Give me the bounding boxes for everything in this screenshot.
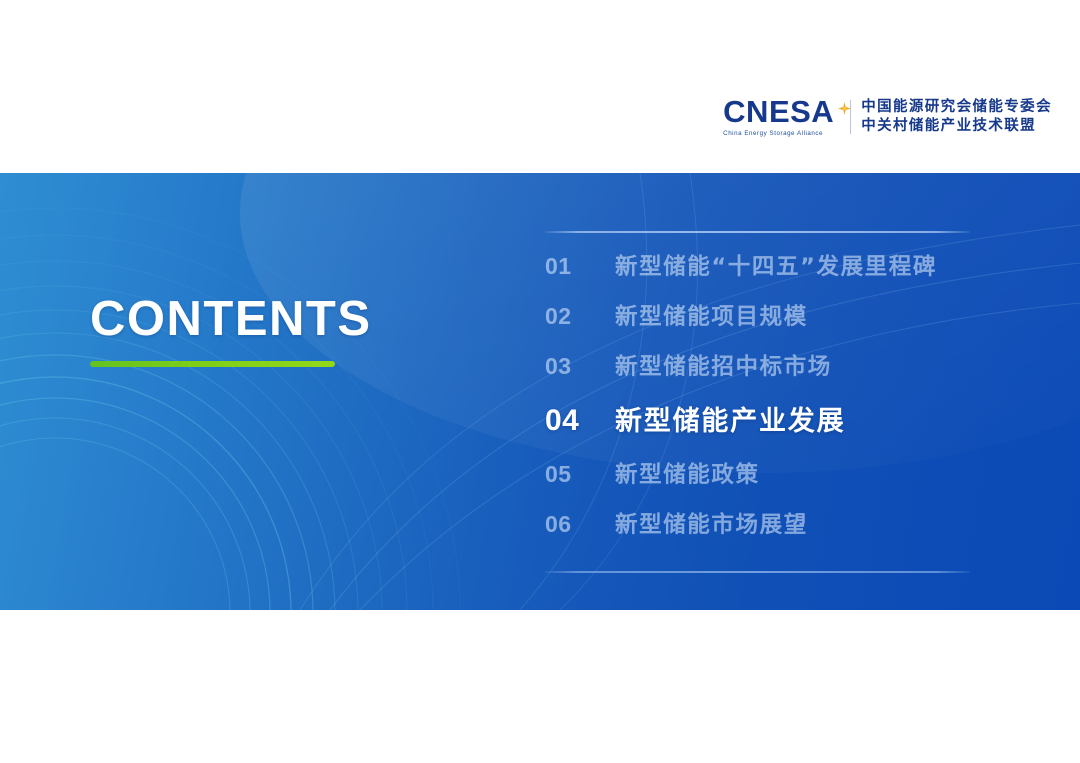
logo-chinese-line-1: 中国能源研究会储能专委会 <box>861 99 1052 116</box>
toc-divider-bottom <box>545 571 970 573</box>
toc-number-05: 05 <box>545 461 615 488</box>
toc-label-06: 新型储能市场展望 <box>615 507 808 539</box>
logo-wordmark-group: CNESA China Energy Storage Alliance <box>723 96 840 137</box>
toc-item-06[interactable]: 06 新型储能市场展望 <box>545 507 970 557</box>
toc-item-05[interactable]: 05 新型储能政策 <box>545 457 970 507</box>
toc-item-03[interactable]: 03 新型储能招中标市场 <box>545 349 970 399</box>
page-title: CONTENTS <box>90 295 372 344</box>
toc-label-02: 新型储能项目规模 <box>615 299 808 331</box>
logo-tagline: China Energy Storage Alliance <box>723 130 823 137</box>
toc-label-04: 新型储能产业发展 <box>615 399 845 438</box>
table-of-contents: 01 新型储能“十四五”发展里程碑 02 新型储能项目规模 03 新型储能招中标… <box>545 231 970 573</box>
toc-label-01: 新型储能“十四五”发展里程碑 <box>615 249 937 281</box>
slide-header: CNESA China Energy Storage Alliance 中国能源… <box>0 0 1080 173</box>
slide-root: CNESA China Energy Storage Alliance 中国能源… <box>0 0 1080 763</box>
toc-label-05: 新型储能政策 <box>615 457 760 489</box>
content-panel: CONTENTS 01 新型储能“十四五”发展里程碑 02 新型储能项目规模 0… <box>0 173 1080 610</box>
logo-divider <box>850 100 851 134</box>
toc-list: 01 新型储能“十四五”发展里程碑 02 新型储能项目规模 03 新型储能招中标… <box>545 233 970 571</box>
toc-item-01[interactable]: 01 新型储能“十四五”发展里程碑 <box>545 249 970 299</box>
logo-wordmark: CNESA <box>723 96 834 127</box>
toc-item-04[interactable]: 04 新型储能产业发展 <box>545 399 970 457</box>
toc-number-06: 06 <box>545 511 615 538</box>
toc-label-03: 新型储能招中标市场 <box>615 349 832 381</box>
title-underline <box>90 361 335 367</box>
toc-number-03: 03 <box>545 353 615 380</box>
toc-number-01: 01 <box>545 253 615 280</box>
slide-footer <box>0 610 1080 763</box>
logo-chinese-line-2: 中关村储能产业技术联盟 <box>861 118 1052 135</box>
toc-item-02[interactable]: 02 新型储能项目规模 <box>545 299 970 349</box>
page-title-block: CONTENTS <box>90 295 372 367</box>
toc-number-04: 04 <box>545 404 615 438</box>
cnesa-logo: CNESA China Energy Storage Alliance 中国能源… <box>723 96 1052 137</box>
logo-chinese-name: 中国能源研究会储能专委会 中关村储能产业技术联盟 <box>861 99 1052 134</box>
toc-number-02: 02 <box>545 303 615 330</box>
